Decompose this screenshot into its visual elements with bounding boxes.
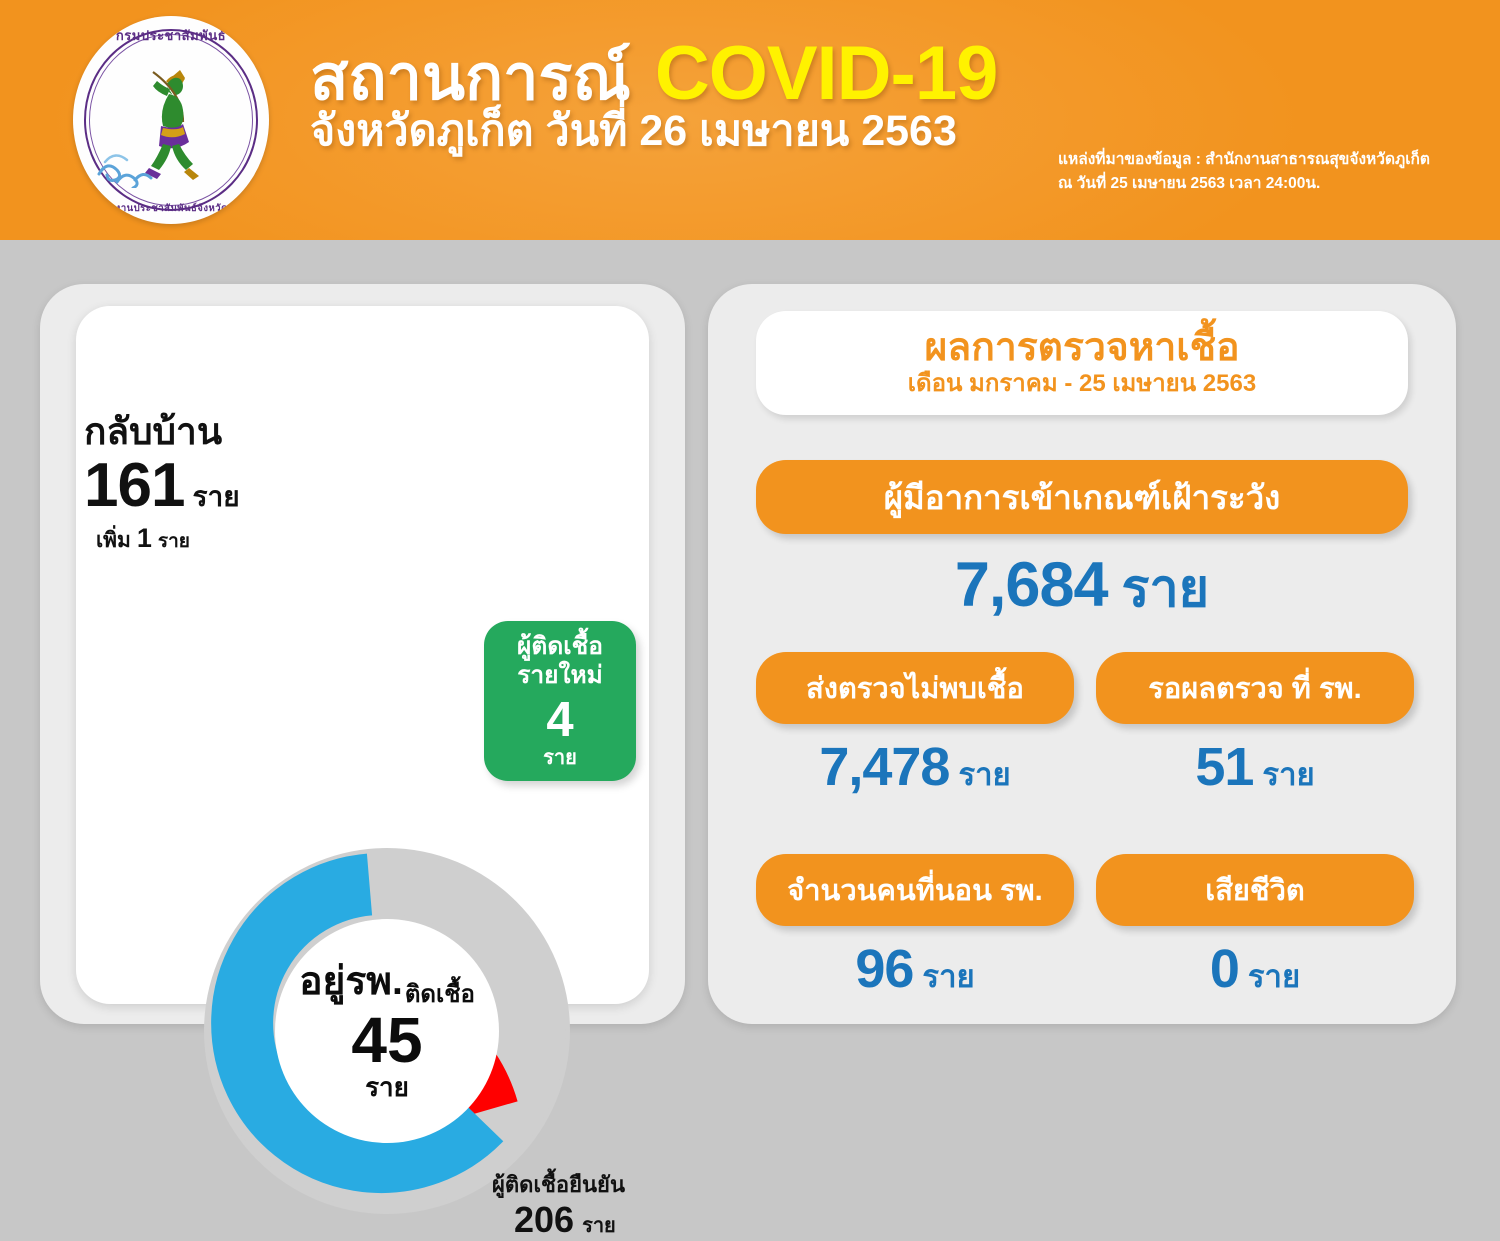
test-results-header-card: ผลการตรวจหาเชื้อ เดือน มกราคม - 25 เมษาย… [756,311,1408,415]
donut-center-sub: ติดเชื้อ [405,974,475,1013]
page-subtitle: จังหวัดภูเก็ต วันที่ 26 เมษายน 2563 [310,108,997,155]
watch-criteria-value: 7,684 [955,554,1108,617]
new-cases-unit: ราย [543,747,577,769]
source-line-1: แหล่งที่มาของข้อมูล : สำนักงานสาธารณสุขจ… [1058,148,1478,172]
stat-unit-hospitalized: ราย [922,951,974,1001]
donut-center-value: 45 [277,1007,497,1074]
stat-unit-pending-results: ราย [1262,749,1314,799]
donut-center-label: อยู่รพ. ติดเชื้อ 45 ราย [277,962,497,1100]
recovered-home-unit: ราย [192,475,239,519]
recovered-home-delta: เพิ่ม 1 ราย [96,523,240,557]
stat-cell-negative-tests: ส่งตรวจไม่พบเชื้อ 7,478 ราย [756,652,1074,799]
delta-value: 1 [137,523,152,554]
stat-cell-deaths: เสียชีวิต 0 ราย [1096,854,1414,1001]
new-cases-value: 4 [546,695,573,746]
page-header: กรมประชาสัมพันธ์ [0,0,1500,240]
stat-label-hospitalized: จำนวนคนที่นอน รพ. [756,854,1074,926]
watch-criteria-pill: ผู้มีอาการเข้าเกณฑ์เฝ้าระวัง [756,460,1408,534]
stat-label-deaths: เสียชีวิต [1096,854,1414,926]
logo-bottom-text: สำนักงานประชาสัมพันธ์จังหวัดภูเก็ต [73,201,269,216]
page-title-thai: สถานการณ์ [310,45,631,111]
test-results-title: ผลการตรวจหาเชื้อ [924,328,1239,369]
new-cases-badge: ผู้ติดเชื้อ รายใหม่ 4 ราย [484,621,636,781]
stat-value-pending-results: 51 [1195,740,1253,794]
confirmed-cases-unit: ราย [582,1209,616,1241]
confirmed-cases-block: ผู้ติดเชื้อยืนยัน 206 ราย [492,1172,625,1241]
stat-label-pending-results: รอผลตรวจ ที่ รพ. [1096,652,1414,724]
stat-label-negative-tests: ส่งตรวจไม่พบเชื้อ [756,652,1074,724]
data-source-note: แหล่งที่มาของข้อมูล : สำนักงานสาธารณสุขจ… [1058,148,1478,196]
donut-center-main: อยู่รพ. [299,962,403,1001]
logo-disc: กรมประชาสัมพันธ์ [73,16,269,224]
watch-criteria-unit: ราย [1122,546,1210,629]
recovered-home-label: กลับบ้าน [84,412,240,453]
recovered-home-block: กลับบ้าน 161 ราย เพิ่ม 1 ราย [84,412,240,557]
confirmed-cases-label: ผู้ติดเชื้อยืนยัน [492,1172,625,1198]
right-panel: ผลการตรวจหาเชื้อ เดือน มกราคม - 25 เมษาย… [708,284,1456,1024]
confirmed-cases-value: 206 [514,1202,574,1238]
left-panel: กลับบ้าน 161 ราย เพิ่ม 1 ราย ผู้ติดเชื้อ… [40,284,685,1024]
infection-donut-chart: อยู่รพ. ติดเชื้อ 45 ราย [192,836,582,1226]
delta-unit: ราย [158,526,190,556]
logo-top-text: กรมประชาสัมพันธ์ [73,25,269,46]
organization-logo: กรมประชาสัมพันธ์ [62,14,280,226]
stat-unit-deaths: ราย [1248,951,1300,1001]
donut-center-unit: ราย [277,1074,497,1100]
source-line-2: ณ วันที่ 25 เมษายน 2563 เวลา 24:00น. [1058,172,1478,196]
delta-word: เพิ่ม [96,524,131,557]
test-results-period: เดือน มกราคม - 25 เมษายน 2563 [908,370,1256,399]
stat-value-deaths: 0 [1210,942,1239,996]
header-title-block: สถานการณ์ COVID-19 จังหวัดภูเก็ต วันที่ … [310,36,997,155]
page-title-covid: COVID-19 [655,36,998,112]
recovered-home-value: 161 [84,455,184,517]
new-cases-label-line1: ผู้ติดเชื้อ [517,633,603,662]
stat-cell-pending-results: รอผลตรวจ ที่ รพ. 51 ราย [1096,652,1414,799]
stat-unit-negative-tests: ราย [958,749,1010,799]
stat-value-hospitalized: 96 [855,942,913,996]
wave-motif-icon [95,142,167,188]
new-cases-label-line2: รายใหม่ [517,662,603,691]
watch-criteria-value-row: 7,684 ราย [756,546,1408,629]
stat-cell-hospitalized: จำนวนคนที่นอน รพ. 96 ราย [756,854,1074,1001]
stat-value-negative-tests: 7,478 [819,740,949,794]
